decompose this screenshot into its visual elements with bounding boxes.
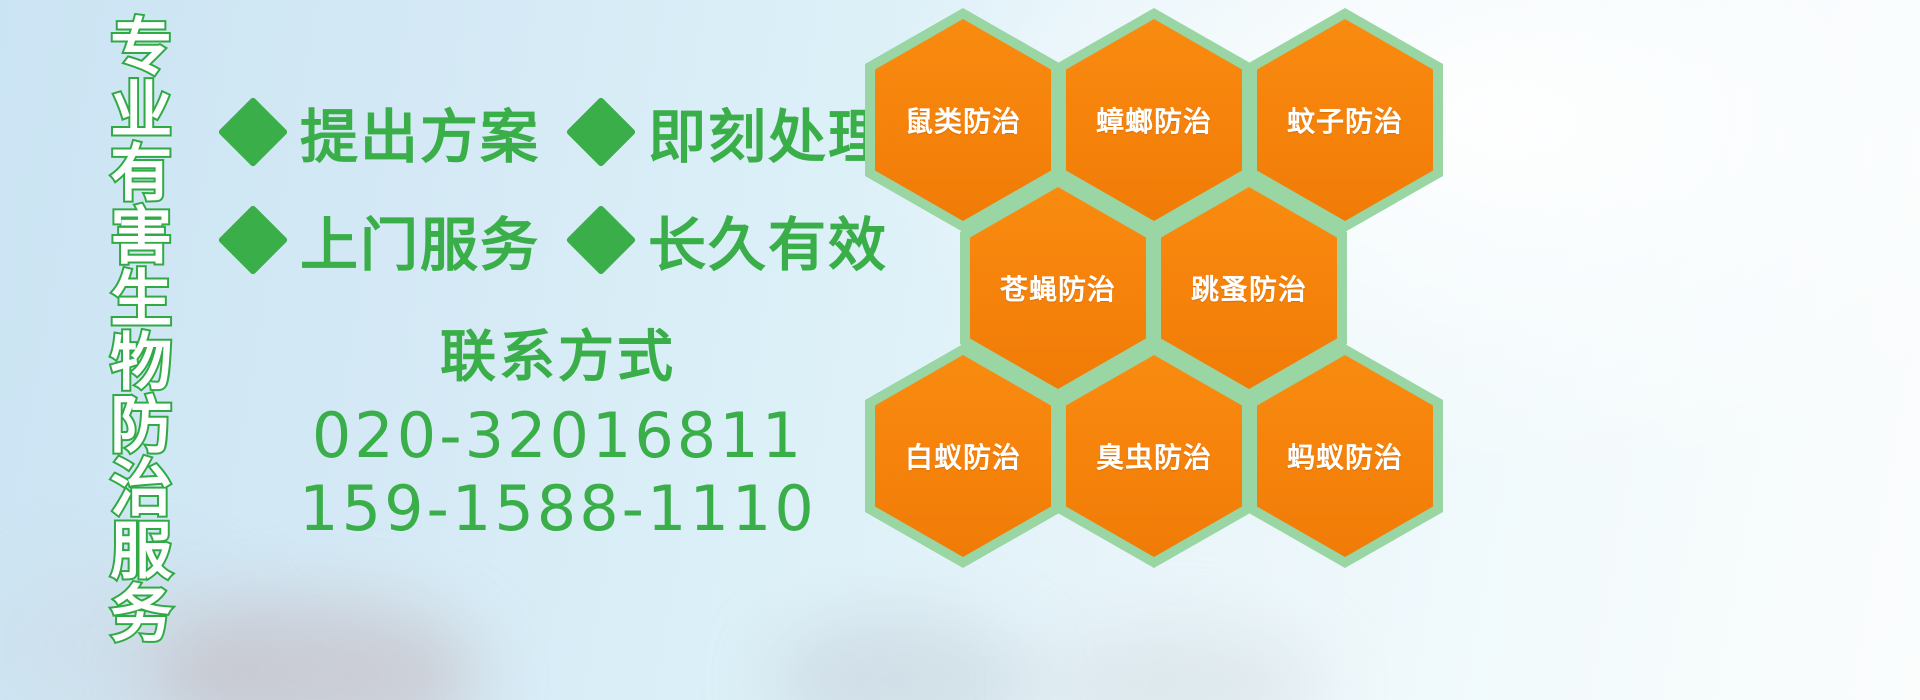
feature-label: 上门服务 <box>300 198 540 282</box>
hex-label: 鼠类防治 <box>905 100 1021 140</box>
feature-row: 提出方案 即刻处理 <box>228 78 878 186</box>
feature-item-immediate-handling: 即刻处理 <box>576 90 888 174</box>
hex-inner: 苍蝇防治 <box>970 187 1146 389</box>
feature-item-long-lasting: 长久有效 <box>576 198 888 282</box>
diamond-bullet-icon <box>218 205 289 276</box>
hex-inner: 蟑螂防治 <box>1066 19 1242 221</box>
feature-row: 上门服务 长久有效 <box>228 186 878 294</box>
hex-label: 蟑螂防治 <box>1096 100 1212 140</box>
contact-title: 联系方式 <box>228 312 888 393</box>
hex-inner: 蚊子防治 <box>1257 19 1433 221</box>
hex-inner: 蚂蚁防治 <box>1257 355 1433 557</box>
feature-label: 即刻处理 <box>648 90 888 174</box>
phone-number-landline[interactable]: 020-32016811 <box>228 399 888 472</box>
feature-list: 提出方案 即刻处理 上门服务 长久有效 <box>228 78 878 294</box>
service-hexagon-grid: 鼠类防治 蟑螂防治 蚊子防治 苍蝇防治 跳蚤防治 白蚁防治 <box>855 0 1475 700</box>
hex-inner: 鼠类防治 <box>875 19 1051 221</box>
hex-label: 白蚁防治 <box>905 436 1021 476</box>
hex-label: 跳蚤防治 <box>1191 268 1307 308</box>
hex-inner: 跳蚤防治 <box>1161 187 1337 389</box>
feature-label: 长久有效 <box>648 198 888 282</box>
hex-label: 苍蝇防治 <box>1000 268 1116 308</box>
contact-block: 联系方式 020-32016811 159-1588-1110 <box>228 312 888 545</box>
banner-canvas: 专业有害生物防治服务 提出方案 即刻处理 上门服务 长久有效 联系方式 0 <box>0 0 1920 700</box>
background-blur-blob <box>150 600 480 700</box>
hex-label: 臭虫防治 <box>1096 436 1212 476</box>
vertical-headline: 专业有害生物防治服务 <box>104 14 167 644</box>
diamond-bullet-icon <box>218 97 289 168</box>
feature-item-propose-plan: 提出方案 <box>228 90 540 174</box>
phone-number-mobile[interactable]: 159-1588-1110 <box>228 472 888 545</box>
diamond-bullet-icon <box>566 97 637 168</box>
hex-label: 蚊子防治 <box>1287 100 1403 140</box>
hex-inner: 臭虫防治 <box>1066 355 1242 557</box>
feature-item-onsite-service: 上门服务 <box>228 198 540 282</box>
hex-label: 蚂蚁防治 <box>1287 436 1403 476</box>
feature-label: 提出方案 <box>300 90 540 174</box>
diamond-bullet-icon <box>566 205 637 276</box>
hex-inner: 白蚁防治 <box>875 355 1051 557</box>
